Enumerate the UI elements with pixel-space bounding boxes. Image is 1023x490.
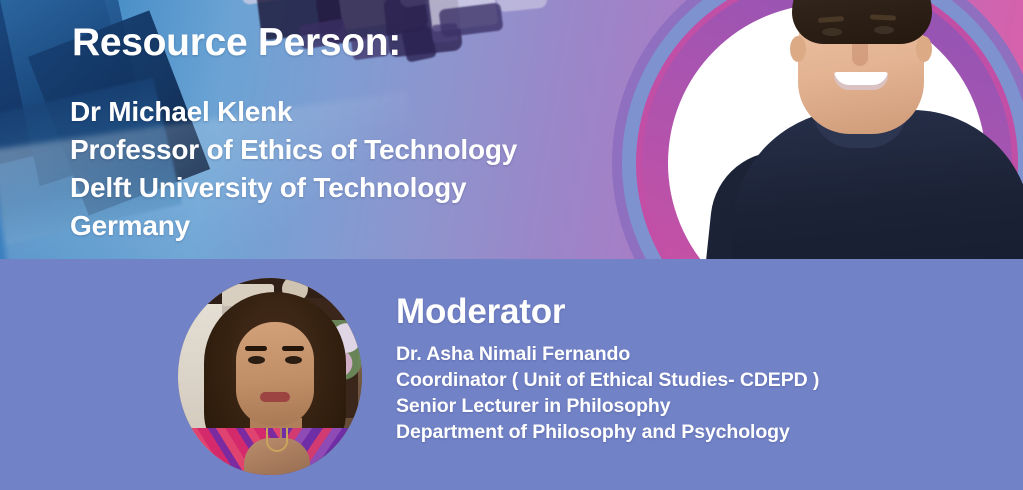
resource-person-affiliation: Delft University of Technology (70, 169, 517, 207)
resource-person-details: Dr Michael Klenk Professor of Ethics of … (70, 93, 517, 245)
moderator-department: Department of Philosophy and Psychology (396, 419, 819, 445)
portrait-eye (248, 356, 265, 364)
moderator-details: Dr. Asha Nimali Fernando Coordinator ( U… (396, 341, 819, 445)
portrait-lips (260, 392, 290, 402)
moderator-heading: Moderator (396, 294, 565, 329)
moderator-position: Senior Lecturer in Philosophy (396, 393, 819, 419)
moderator-name: Dr. Asha Nimali Fernando (396, 341, 819, 367)
moderator-portrait (178, 278, 362, 475)
moderator-role: Coordinator ( Unit of Ethical Studies- C… (396, 367, 819, 393)
resource-person-heading: Resource Person: (72, 23, 401, 62)
resource-person-title: Professor of Ethics of Technology (70, 131, 517, 169)
portrait-face (236, 322, 314, 426)
resource-person-country: Germany (70, 207, 517, 245)
webinar-poster: Resource Person: Dr Michael Klenk Profes… (0, 0, 1023, 490)
portrait-eye (285, 356, 302, 364)
background-object-shape (494, 0, 547, 13)
resource-person-name: Dr Michael Klenk (70, 93, 517, 131)
portrait-eyebrow (282, 346, 304, 351)
portrait-necklace (266, 428, 288, 452)
background-object-shape (439, 2, 504, 37)
portrait-eyebrow (245, 346, 267, 351)
